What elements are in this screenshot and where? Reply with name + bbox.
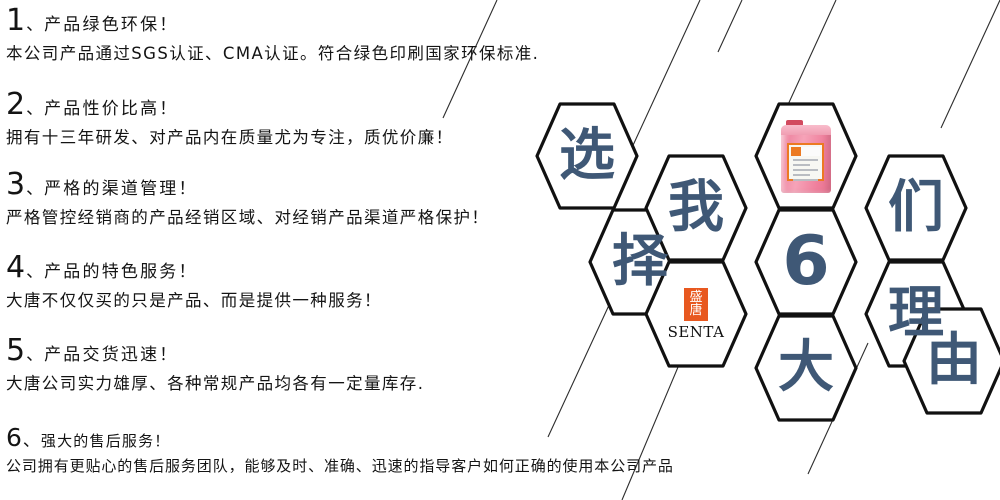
brand-seal-icon: 盛 唐 bbox=[684, 288, 708, 321]
hex-label: 6 bbox=[782, 228, 829, 296]
label-line bbox=[793, 164, 810, 166]
hex-cell-product-image bbox=[752, 100, 860, 212]
label-line bbox=[793, 159, 818, 161]
hex-label: 们 bbox=[888, 180, 944, 236]
hex-cell-six: 6 bbox=[752, 206, 860, 318]
hex-cell-xuan: 选 bbox=[533, 100, 641, 212]
brand-latin-name: SENTA bbox=[668, 323, 725, 341]
jerrycan-shoulder bbox=[781, 125, 831, 135]
hex-cell-da: 大 bbox=[752, 312, 860, 424]
honeycomb-graphic: 选 择 我 盛 唐 SENTA bbox=[0, 0, 1000, 500]
label-line bbox=[793, 179, 818, 181]
label-line bbox=[793, 174, 810, 176]
hex-label: 大 bbox=[778, 340, 834, 396]
product-jerrycan-icon bbox=[778, 119, 834, 193]
label-line bbox=[793, 169, 818, 171]
brand-seal-top-char: 盛 bbox=[689, 291, 702, 304]
brand-logo: 盛 唐 SENTA bbox=[668, 288, 725, 341]
hex-label: 我 bbox=[668, 180, 724, 236]
hex-label: 选 bbox=[559, 128, 615, 184]
hex-label: 择 bbox=[612, 234, 668, 290]
brand-seal-bottom-char: 唐 bbox=[689, 304, 702, 317]
label-header-band bbox=[791, 147, 820, 156]
jerrycan-label bbox=[787, 143, 824, 181]
hex-label: 由 bbox=[926, 333, 982, 389]
hex-cell-men: 们 bbox=[862, 152, 970, 264]
promo-banner: 1 、 产品绿色环保！ 本公司产品通过SGS认证、CMA认证。符合绿色印刷国家环… bbox=[0, 0, 1000, 500]
